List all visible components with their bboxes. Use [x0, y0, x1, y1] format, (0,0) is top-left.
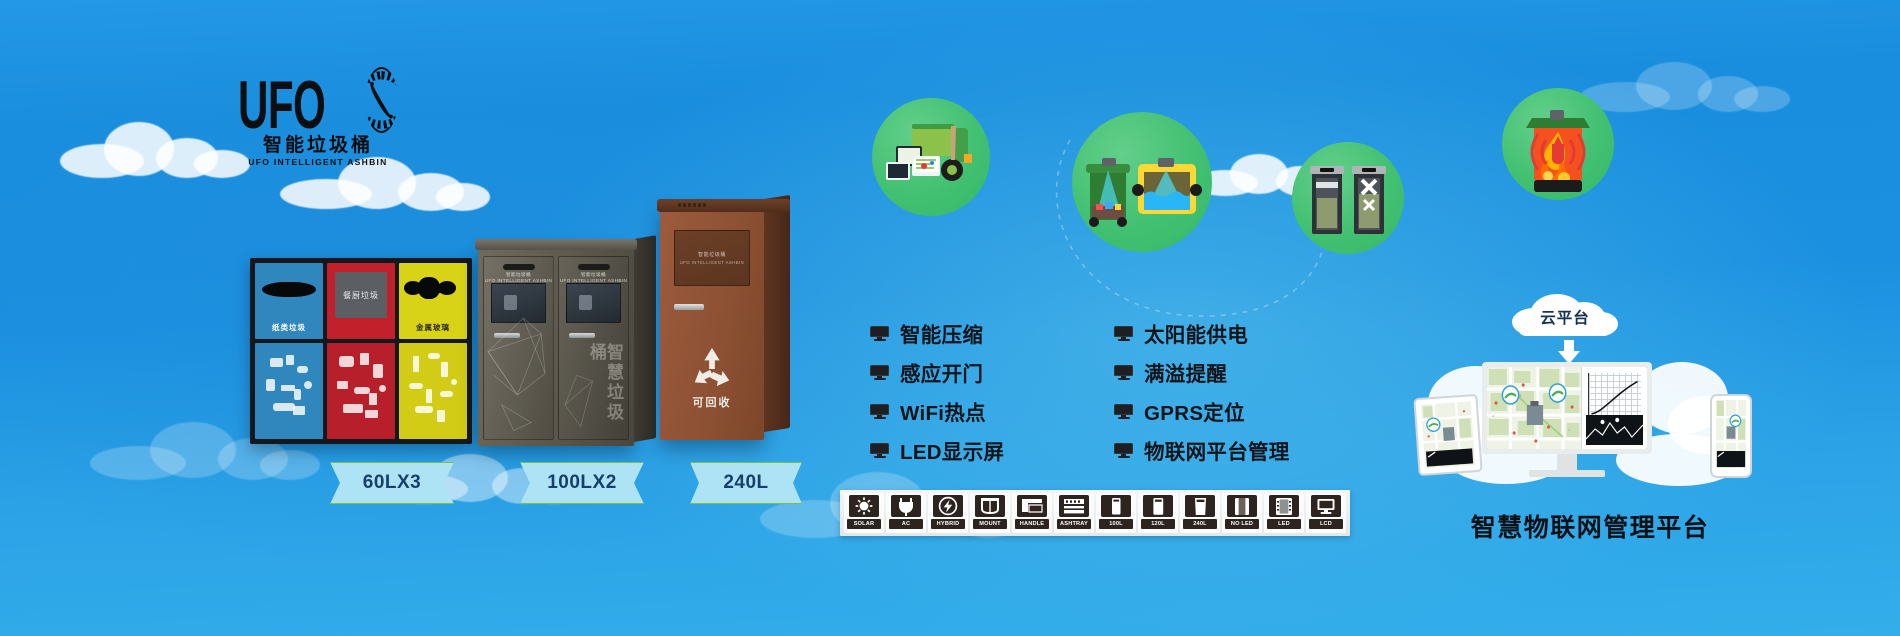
spec-item-hybrid: HYBRID: [928, 493, 968, 533]
vent-icon: [678, 203, 706, 207]
bin-120l-icon: [1143, 495, 1173, 517]
spec-item-mount: MOUNT: [970, 493, 1010, 533]
spec-label: SOLAR: [847, 519, 881, 529]
cloud-platform-label: 云平台: [1512, 306, 1618, 328]
ashtray-icon: [1059, 495, 1089, 517]
feature-label: 太阳能供电: [1144, 318, 1248, 348]
recycle-label: 可回收: [660, 394, 764, 410]
bin-compartment-metal-glass: 金属玻璃: [399, 263, 467, 439]
ultrasonic-bin-sensor-icon: [1072, 112, 1212, 252]
monitor-neck: [1557, 454, 1577, 470]
monitor-icon: [870, 443, 889, 458]
spec-item-ashtray: ASHTRAY: [1054, 493, 1094, 533]
tablet-screen: [1421, 401, 1475, 468]
bin-100l-icon: [1101, 495, 1131, 517]
iot-platform-illustration: 云平台: [1420, 300, 1760, 536]
spec-label: HYBRID: [931, 519, 965, 529]
monitor-icon: [1114, 443, 1133, 458]
display-screen-icon: 智能垃圾桶 UFO INTELLIGENT ASHBIN: [674, 230, 750, 286]
feature-item: 智能压缩: [870, 318, 1086, 348]
compartment-panel: [399, 343, 467, 439]
screen-slot-icon: 餐厨垃圾: [335, 272, 387, 318]
bin-body: 纸类垃圾: [250, 258, 472, 444]
capacity-badge-60lx3: 60LX3: [330, 462, 454, 504]
capability-circle-waste-compression: [1292, 142, 1404, 254]
monitor-icon: [870, 404, 889, 419]
oval-slot-icon: [262, 282, 316, 297]
monitor-icon: [870, 365, 889, 380]
growth-curve-icon: [1588, 373, 1641, 419]
spec-label: 240L: [1183, 519, 1217, 529]
spec-label: ASHTRAY: [1057, 519, 1091, 529]
capability-circle-fire-alarm: [1502, 88, 1614, 200]
logo-wordmark-row: UFO: [238, 62, 398, 134]
feature-item: 满溢提醒: [1114, 357, 1330, 387]
capacity-badge-240l: 240L: [690, 462, 802, 504]
logo-name-en: UFO INTELLIGENT ASHBIN: [238, 158, 398, 167]
svg-text:C: C: [1568, 428, 1570, 432]
svg-text:A: A: [1492, 414, 1494, 418]
bin-compartment-kitchen: 餐厨垃圾: [327, 263, 395, 439]
clover-slot-icon: [404, 277, 462, 299]
compartment-panel: [255, 343, 323, 439]
bin-door-left: 智能垃圾桶 UFO INTELLIGENT ASHBIN: [483, 256, 554, 440]
bin-side-panel: [634, 235, 656, 442]
spec-item-ac: AC: [886, 493, 926, 533]
feature-label: 感应开门: [900, 357, 983, 387]
spec-item-handle: HANDLE: [1012, 493, 1052, 533]
handle-icon: [1017, 495, 1047, 517]
bin-compartment-paper: 纸类垃圾: [255, 263, 323, 439]
garbage-truck-icon: [872, 98, 990, 216]
monitor-icon: [1114, 404, 1133, 419]
spec-item-lcd: LCD: [1306, 493, 1346, 533]
fire-alarm-bin-icon: [1502, 88, 1614, 200]
feature-label: LED显示屏: [900, 435, 1004, 465]
bin-body: 智能垃圾桶 UFO INTELLIGENT ASHBIN: [478, 246, 634, 446]
logo-wordmark: UFO: [238, 78, 325, 134]
monitor-icon: [870, 326, 889, 341]
feature-item: 物联网平台管理: [1114, 435, 1330, 465]
cloud-platform-badge: 云平台: [1512, 294, 1618, 336]
bin-door-right: 智能垃圾桶 UFO INTELLIGENT ASHBIN 智慧垃圾桶: [558, 256, 629, 440]
spec-item-100l: 100L: [1096, 493, 1136, 533]
spec-label: AC: [889, 519, 923, 529]
bin-lid: [475, 239, 637, 250]
feature-list: 智能压缩 太阳能供电 感应开门 满溢提醒 WiFi热点 GPRS定位 LED显示…: [870, 318, 1330, 465]
device-desktop-monitor: ABC: [1482, 362, 1652, 477]
feature-label: 智能压缩: [900, 318, 983, 348]
spec-label: 120L: [1141, 519, 1175, 529]
capacity-label: 60LX3: [363, 472, 421, 494]
handle-icon: [674, 304, 704, 310]
feature-item: GPRS定位: [1114, 396, 1330, 426]
monitor-base: [1529, 470, 1605, 477]
bin-no-led-icon: [1227, 495, 1257, 517]
spec-label: MOUNT: [973, 519, 1007, 529]
monitor-icon: [1114, 365, 1133, 380]
chart-view: [1581, 367, 1647, 449]
compartment-label: 金属玻璃: [416, 322, 450, 333]
feature-label: 满溢提醒: [1144, 357, 1227, 387]
polygon-decoration-icon: [559, 257, 628, 434]
recycle-icon: [689, 346, 735, 390]
capacity-badge-100lx2: 100LX2: [520, 462, 644, 504]
compartment-label: 纸类垃圾: [272, 322, 306, 333]
bin-body: 智能垃圾桶 UFO INTELLIGENT ASHBIN 可回收: [660, 208, 764, 440]
screen-text-en: UFO INTELLIGENT ASHBIN: [680, 260, 744, 265]
monitor-icon: [1114, 326, 1133, 341]
spec-label: LCD: [1309, 519, 1343, 529]
device-tablet: [1413, 394, 1482, 476]
map-view: ABC: [1487, 367, 1581, 449]
screen-text-cn: 智能垃圾桶: [698, 251, 726, 258]
capacity-label: 240L: [723, 472, 768, 494]
platform-caption: 智慧物联网管理平台: [1410, 508, 1770, 544]
polygon-decoration-icon: [484, 257, 553, 434]
product-smart-double-bin: 智能垃圾桶 UFO INTELLIGENT ASHBIN: [478, 246, 634, 446]
down-arrow-icon: [1558, 340, 1580, 364]
bin-side-panel: [764, 195, 790, 432]
feature-item: 感应开门: [870, 357, 1086, 387]
spec-icon-strip: SOLAR AC HYBRID: [840, 490, 1350, 536]
spec-label: NO LED: [1225, 519, 1259, 529]
feature-label: WiFi热点: [900, 396, 986, 426]
bin-240l-icon: [1185, 495, 1215, 517]
feature-label: GPRS定位: [1144, 396, 1245, 426]
monitor-screen: ABC: [1487, 367, 1647, 449]
capability-circle-fleet-monitoring: [872, 98, 990, 216]
spec-item-led: LED: [1264, 493, 1304, 533]
litter-graphic-icon: [255, 343, 323, 439]
capability-circle-fill-level-sensing: [1072, 112, 1212, 252]
area-chart-block: [1586, 415, 1643, 445]
feature-item: 太阳能供电: [1114, 318, 1330, 348]
wall-mount-icon: [975, 495, 1005, 517]
compartment-top: 餐厨垃圾: [327, 263, 395, 339]
spec-item-no-led: NO LED: [1222, 493, 1262, 533]
banner-canvas: UFO 智能垃圾桶 UFO INTELLIGENT ASHBIN 纸类垃圾: [0, 0, 1900, 636]
compartment-top: 纸类垃圾: [255, 263, 323, 339]
spec-label: HANDLE: [1015, 519, 1049, 529]
monitor-bezel: ABC: [1482, 362, 1652, 454]
product-brown-recycle-bin: 智能垃圾桶 UFO INTELLIGENT ASHBIN 可回收: [660, 208, 764, 440]
spec-label: 100L: [1099, 519, 1133, 529]
brand-logo: UFO 智能垃圾桶 UFO INTELLIGENT ASHBIN: [238, 62, 398, 172]
power-plug-icon: [891, 495, 921, 517]
feature-label: 物联网平台管理: [1144, 435, 1290, 465]
spec-item-120l: 120L: [1138, 493, 1178, 533]
ufo-ring-logo-icon: [365, 67, 398, 133]
compartment-top: 金属玻璃: [399, 263, 467, 339]
sun-icon: [849, 495, 879, 517]
product-tri-colour-bin: 纸类垃圾: [250, 258, 472, 444]
phone-screen: [1716, 400, 1746, 468]
compaction-bins-icon: [1292, 142, 1404, 254]
spec-label: LED: [1267, 519, 1301, 529]
bin-lid: [657, 199, 790, 212]
device-smartphone: [1710, 394, 1752, 478]
feature-item: LED显示屏: [870, 435, 1086, 465]
spec-item-solar: SOLAR: [844, 493, 884, 533]
lcd-monitor-icon: [1311, 495, 1341, 517]
spec-item-240l: 240L: [1180, 493, 1220, 533]
hybrid-power-icon: [933, 495, 963, 517]
compartment-panel: [327, 343, 395, 439]
litter-graphic-icon: [399, 343, 467, 439]
capacity-label: 100LX2: [547, 472, 617, 494]
litter-graphic-icon: [327, 343, 395, 439]
svg-text:B: B: [1520, 394, 1522, 398]
feature-item: WiFi热点: [870, 396, 1086, 426]
bin-led-icon: [1269, 495, 1299, 517]
cloud-decoration: [60, 118, 250, 182]
slot-label: 餐厨垃圾: [343, 290, 379, 301]
